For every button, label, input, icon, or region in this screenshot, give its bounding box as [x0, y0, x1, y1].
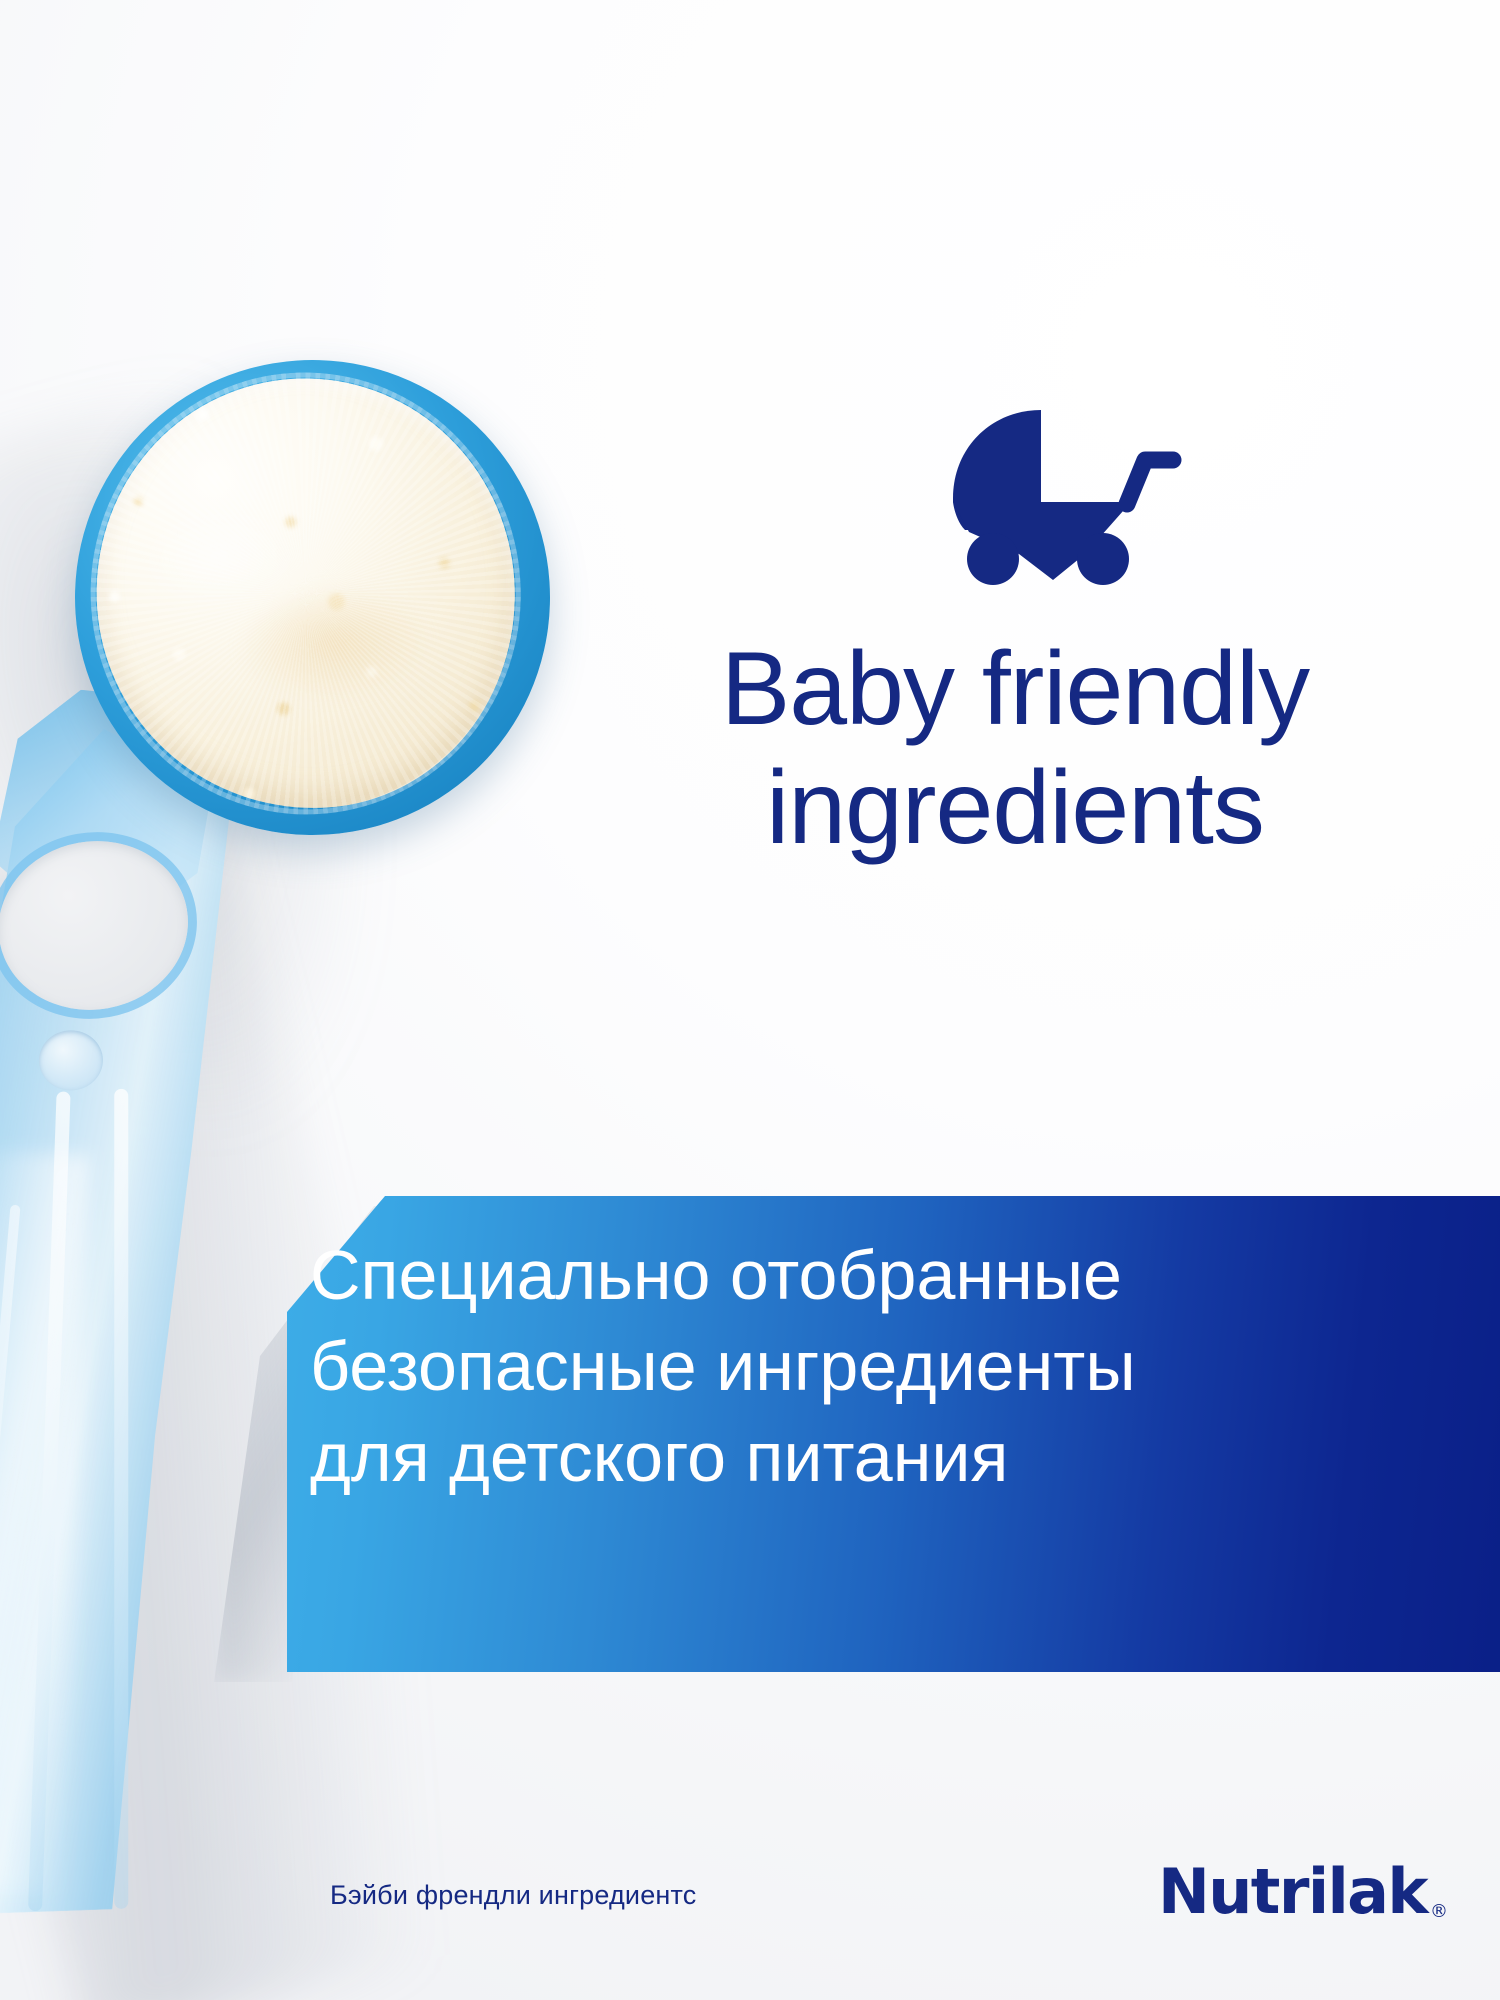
- baby-stroller-icon: [945, 402, 1185, 587]
- poster-canvas: Baby friendly ingredients Специально ото…: [0, 0, 1500, 2000]
- registered-trademark-icon: ®: [1430, 1901, 1448, 1922]
- banner-message: Специально отобранные безопасные ингреди…: [310, 1230, 1500, 1503]
- transliteration-caption: Бэйби френдли ингредиентс: [330, 1880, 696, 1911]
- handle-rib: [114, 1089, 128, 1909]
- page-title: Baby friendly ingredients: [540, 630, 1490, 867]
- product-photo-scoop: [0, 330, 640, 2000]
- scoop-bowl: [59, 344, 566, 851]
- brand-logo: Nutrilak®: [1158, 1855, 1448, 1928]
- brand-name: Nutrilak: [1158, 1855, 1427, 1928]
- scoop-handle: [0, 725, 270, 1916]
